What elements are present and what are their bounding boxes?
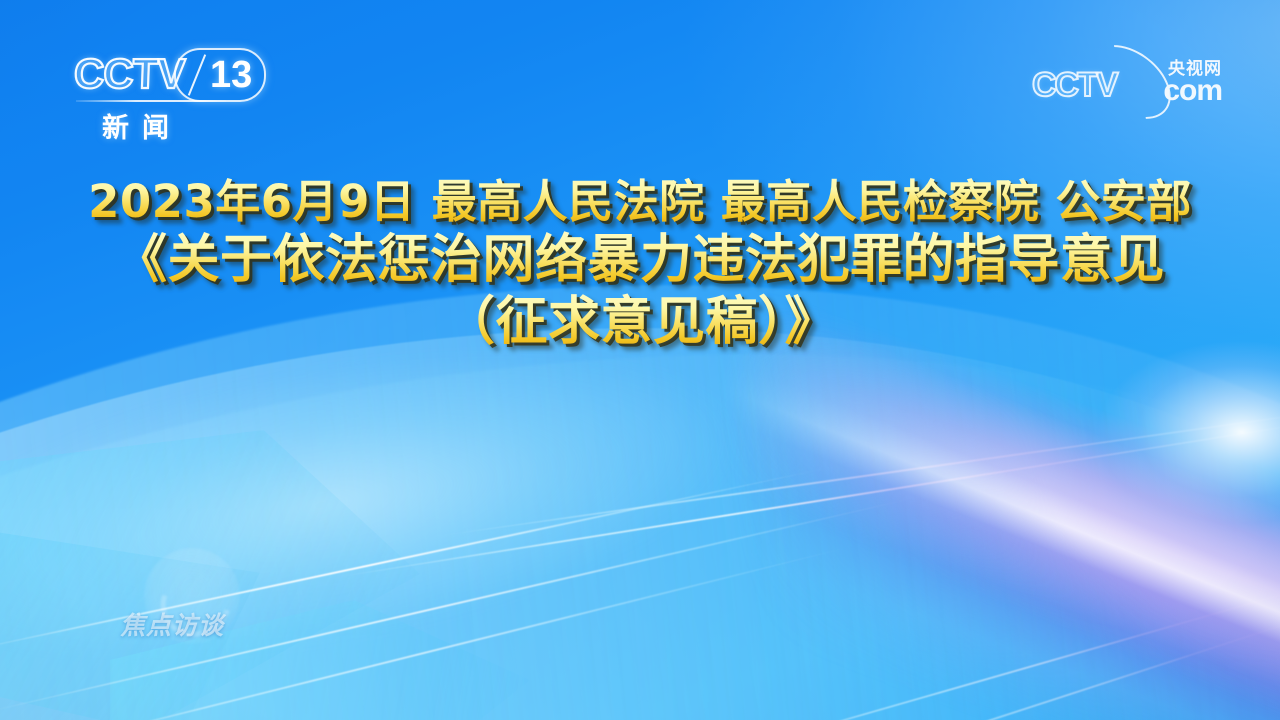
background-filament-7: [775, 591, 1280, 720]
cctv-com-domain: com: [1163, 76, 1222, 106]
headline-line-1: 2023年6月9日 最高人民法院 最高人民检察院 公安部: [0, 176, 1280, 227]
broadcast-frame: CCTV 13 新闻 CCTV 央视网 com 2023年6月9日 最高人民法院…: [0, 0, 1280, 720]
background-filament-6: [713, 564, 1280, 720]
headline-line-2: 《关于依法惩治网络暴力违法犯罪的指导意见: [0, 231, 1280, 290]
background-wave-crest-haze: [0, 243, 998, 720]
cctv13-letters: CCTV: [73, 53, 185, 95]
cctv13-subtitle: 新闻: [102, 106, 182, 145]
cctv13-number-badge: 13: [174, 48, 266, 102]
cctv13-wordmark: CCTV 13: [74, 48, 264, 100]
cctv13-underline-rule: [76, 100, 226, 102]
cctv13-channel-number: 13: [210, 53, 252, 97]
cctv13-channel-logo: CCTV 13 新闻: [74, 48, 264, 140]
cctv13-slash-divider: [188, 54, 206, 96]
cctv-com-watermark: CCTV 央视网 com: [1032, 52, 1222, 114]
